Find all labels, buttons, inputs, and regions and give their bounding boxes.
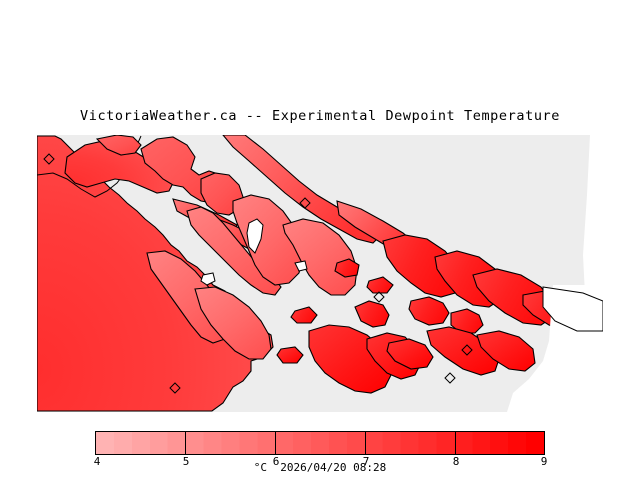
colorbar[interactable]	[95, 431, 545, 455]
page-title: VictoriaWeather.ca -- Experimental Dewpo…	[0, 108, 640, 124]
map-canvas[interactable]	[37, 135, 603, 412]
colorbar-tick-5	[185, 431, 186, 455]
colorbar-tick-6	[275, 431, 276, 455]
colorbar-gradient	[95, 431, 545, 455]
colorbar-tick-7	[365, 431, 366, 455]
colorbar-tick-8	[455, 431, 456, 455]
map-contour-layer	[37, 135, 603, 412]
station-marker-se[interactable]	[445, 373, 455, 383]
colorbar-caption: °C 2026/04/20 08:28	[0, 461, 640, 474]
